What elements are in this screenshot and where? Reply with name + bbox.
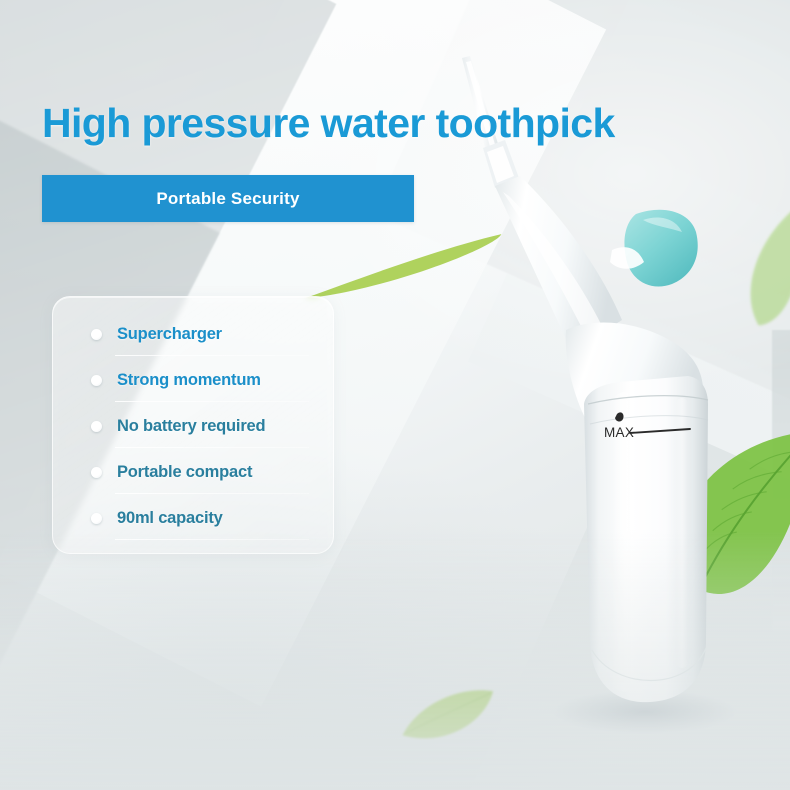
bullet-dot-icon	[91, 467, 102, 478]
feature-item-portable-compact: Portable compact	[53, 449, 333, 495]
feature-item-supercharger: Supercharger	[53, 311, 333, 357]
bullet-dot-icon	[91, 329, 102, 340]
bottom-vignette	[0, 530, 790, 790]
bullet-dot-icon	[91, 421, 102, 432]
feature-separator	[115, 401, 309, 402]
feature-separator	[115, 493, 309, 494]
feature-separator	[115, 447, 309, 448]
feature-label: Supercharger	[117, 325, 222, 344]
feature-separator	[115, 355, 309, 356]
feature-item-no-battery-required: No battery required	[53, 403, 333, 449]
bullet-dot-icon	[91, 375, 102, 386]
subtitle-banner-label: Portable Security	[156, 189, 299, 209]
subtitle-banner: Portable Security	[42, 175, 414, 222]
feature-list-card: Supercharger Strong momentum No battery …	[52, 296, 334, 554]
page-title: High pressure water toothpick	[42, 100, 615, 147]
feature-label: Portable compact	[117, 463, 252, 482]
feature-label: Strong momentum	[117, 371, 261, 390]
bullet-dot-icon	[91, 513, 102, 524]
product-banner-stage: MAX High pressure water toothpick Portab…	[0, 0, 790, 790]
feature-label: No battery required	[117, 417, 265, 436]
feature-item-strong-momentum: Strong momentum	[53, 357, 333, 403]
feature-label: 90ml capacity	[117, 509, 223, 528]
